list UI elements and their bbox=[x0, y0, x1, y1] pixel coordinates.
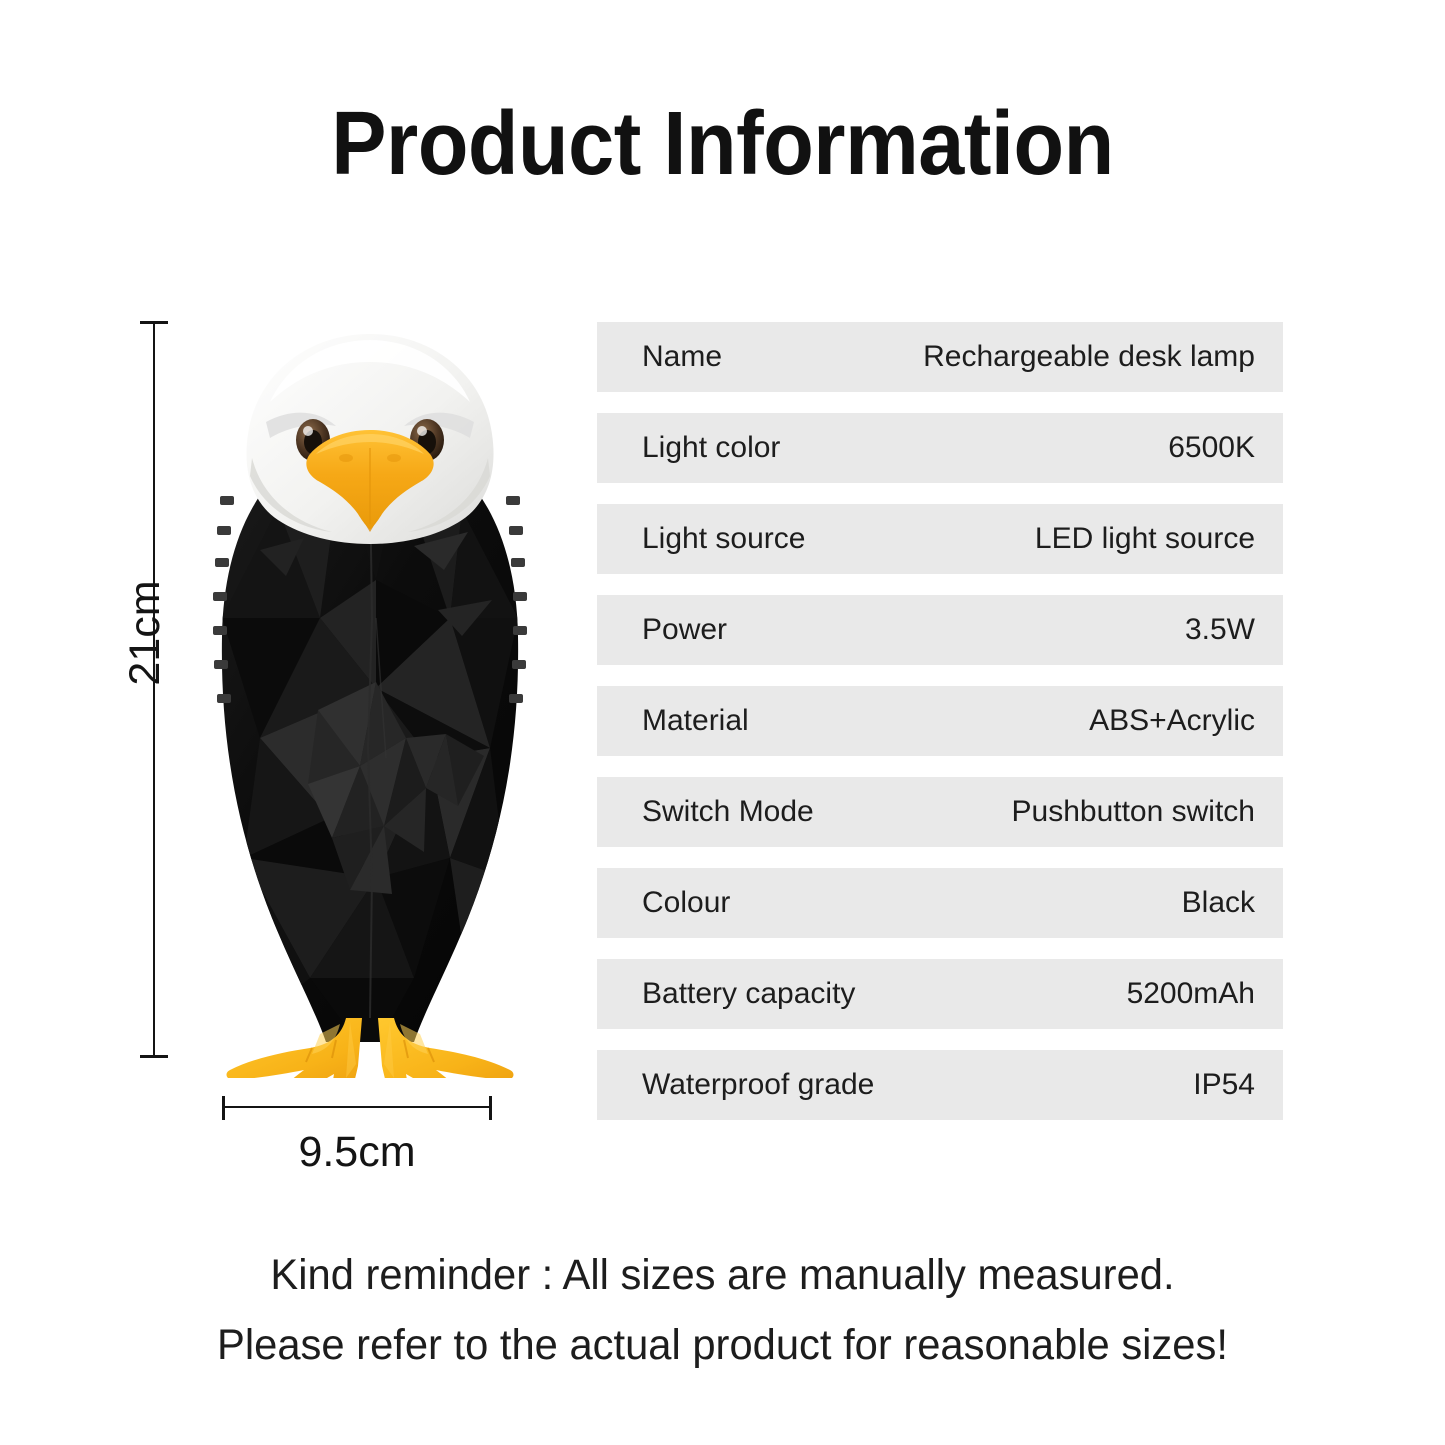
table-row: Waterproof grade IP54 bbox=[597, 1050, 1283, 1120]
spec-label: Waterproof grade bbox=[642, 1068, 874, 1102]
spec-label: Light color bbox=[642, 431, 780, 465]
spec-value: 6500K bbox=[1168, 431, 1255, 465]
width-dimension-tick-left bbox=[222, 1096, 225, 1120]
width-dimension-label: 9.5cm bbox=[215, 1128, 499, 1176]
spec-value: IP54 bbox=[1193, 1068, 1255, 1102]
product-figure-area: 21cm bbox=[95, 310, 565, 1190]
width-dimension-line bbox=[222, 1106, 492, 1108]
spec-label: Switch Mode bbox=[642, 795, 814, 829]
table-row: Battery capacity 5200mAh bbox=[597, 959, 1283, 1029]
height-dimension-tick-top bbox=[140, 321, 168, 324]
width-dimension-tick-right bbox=[489, 1096, 492, 1120]
spec-label: Material bbox=[642, 704, 749, 738]
spec-value: Black bbox=[1182, 886, 1255, 920]
table-row: Switch Mode Pushbutton switch bbox=[597, 777, 1283, 847]
eagle-head bbox=[246, 334, 493, 544]
table-row: Colour Black bbox=[597, 868, 1283, 938]
spec-label: Colour bbox=[642, 886, 730, 920]
reminder-line-1: Kind reminder : All sizes are manually m… bbox=[22, 1240, 1424, 1310]
height-dimension-tick-bottom bbox=[140, 1055, 168, 1058]
spec-value: Rechargeable desk lamp bbox=[923, 340, 1255, 374]
spec-value: Pushbutton switch bbox=[1012, 795, 1255, 829]
page-title: Product Information bbox=[58, 96, 1387, 192]
spec-value: LED light source bbox=[1035, 522, 1255, 556]
table-row: Power 3.5W bbox=[597, 595, 1283, 665]
eagle-lamp-image bbox=[200, 318, 540, 1078]
spec-label: Battery capacity bbox=[642, 977, 855, 1011]
spec-label: Light source bbox=[642, 522, 805, 556]
specification-table: Name Rechargeable desk lamp Light color … bbox=[597, 322, 1283, 1120]
table-row: Name Rechargeable desk lamp bbox=[597, 322, 1283, 392]
reminder-note: Kind reminder : All sizes are manually m… bbox=[0, 1240, 1445, 1380]
spec-value: 3.5W bbox=[1185, 613, 1255, 647]
product-information-page: Product Information 21cm bbox=[0, 0, 1445, 1445]
reminder-line-2: Please refer to the actual product for r… bbox=[22, 1310, 1424, 1380]
spec-value: ABS+Acrylic bbox=[1089, 704, 1255, 738]
spec-label: Name bbox=[642, 340, 722, 374]
table-row: Light color 6500K bbox=[597, 413, 1283, 483]
spec-value: 5200mAh bbox=[1127, 977, 1255, 1011]
spec-label: Power bbox=[642, 613, 727, 647]
height-dimension-label: 21cm bbox=[122, 553, 168, 713]
table-row: Light source LED light source bbox=[597, 504, 1283, 574]
table-row: Material ABS+Acrylic bbox=[597, 686, 1283, 756]
